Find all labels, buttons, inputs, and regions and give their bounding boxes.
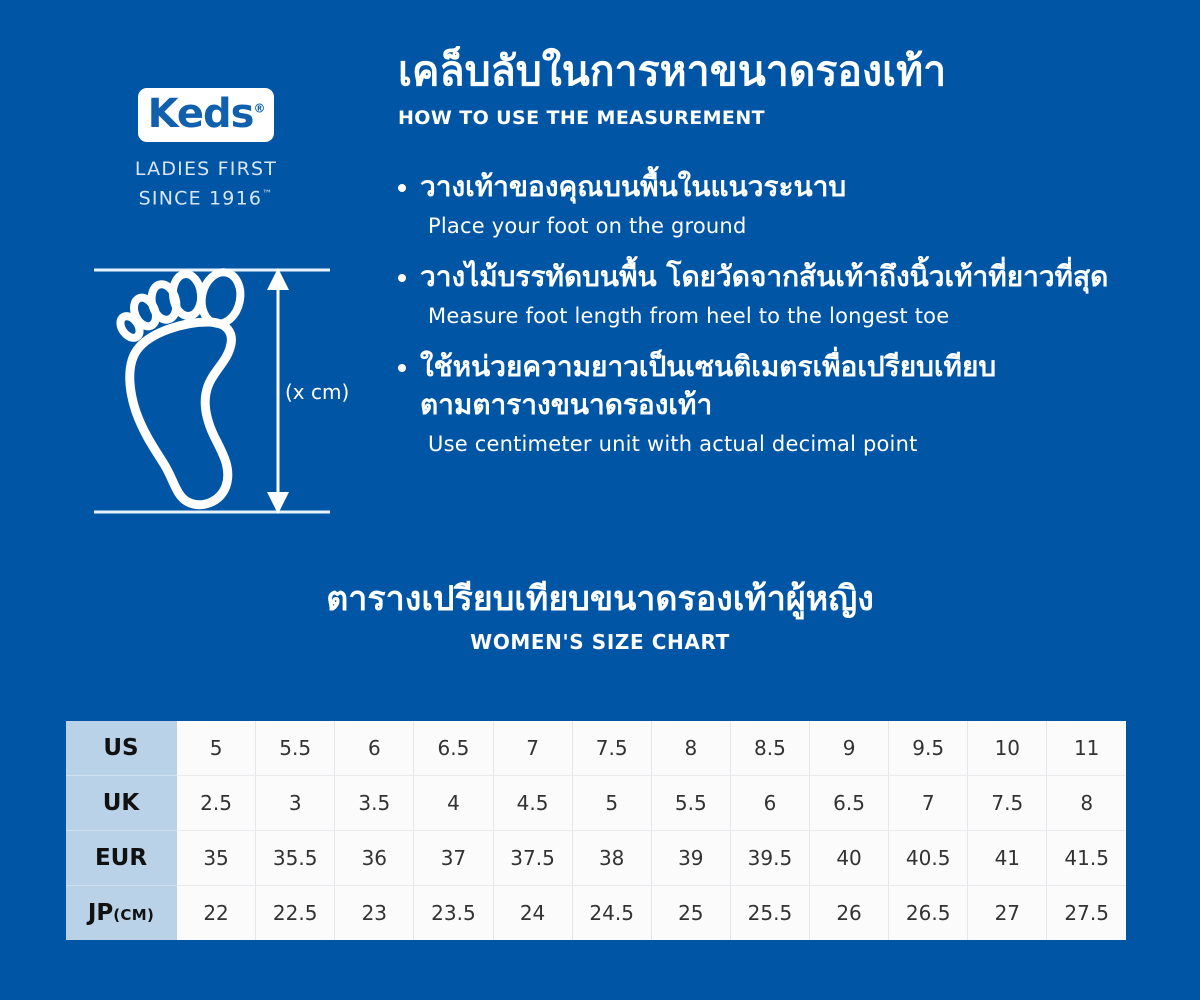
instruction-steps: วางเท้าของคุณบนพื้นในแนวระนาบ Place your… [398,168,1168,476]
row-label-uk: UK [66,776,177,831]
table-cell: 39.5 [730,831,809,886]
row-label-jp-unit: (CM) [113,906,154,924]
table-cell: 6.5 [810,776,889,831]
table-row: JP(CM) 22 22.5 23 23.5 24 24.5 25 25.5 2… [66,886,1126,941]
table-cell: 4 [414,776,493,831]
row-label-jp-text: JP [88,900,113,926]
row-label-uk-text: UK [103,790,140,816]
step-thai-text: วางไม้บรรทัดบนพื้น โดยวัดจากส้นเท้าถึงนิ… [420,258,1108,296]
table-cell: 8 [651,721,730,776]
step-thai-text: ใช้หน่วยความยาวเป็นเซนติเมตรเพื่อเปรียบเ… [420,348,1038,424]
table-cell: 10 [968,721,1047,776]
table-cell: 37 [414,831,493,886]
table-cell: 7.5 [968,776,1047,831]
table-cell: 9.5 [889,721,968,776]
step-thai-row: วางไม้บรรทัดบนพื้น โดยวัดจากส้นเท้าถึงนิ… [398,258,1168,296]
row-label-us: US [66,721,177,776]
table-cell: 2.5 [177,776,256,831]
step-thai-row: วางเท้าของคุณบนพื้นในแนวระนาบ [398,168,1168,206]
step-thai-row: ใช้หน่วยความยาวเป็นเซนติเมตรเพื่อเปรียบเ… [398,348,1038,424]
tagline-line-2: SINCE 1916™ [96,182,316,211]
table-cell: 11 [1047,721,1126,776]
table-cell: 9 [810,721,889,776]
table-cell: 5 [177,721,256,776]
step-english-text: Measure foot length from heel to the lon… [428,302,1168,330]
table-cell: 26 [810,886,889,941]
table-cell: 3.5 [335,776,414,831]
page-title-english: HOW TO USE THE MEASUREMENT [398,107,1158,129]
table-cell: 41 [968,831,1047,886]
measurement-label: (x cm) [285,380,349,404]
size-chart-infographic: { "colors": { "background_blue": "#0055a… [0,0,1200,1000]
step-english-text: Use centimeter unit with actual decimal … [428,430,1168,458]
keds-logo-box: Keds® [138,88,274,142]
table-cell: 24.5 [572,886,651,941]
row-label-jp: JP(CM) [66,886,177,941]
step-english-text: Place your foot on the ground [428,212,1168,240]
table-cell: 40.5 [889,831,968,886]
trademark-icon: ™ [262,189,273,200]
table-cell: 23 [335,886,414,941]
table-cell: 6 [335,721,414,776]
header-block: เคล็บลับในการหาขนาดรองเท้า HOW TO USE TH… [398,46,1158,129]
table-cell: 40 [810,831,889,886]
size-chart-heading: ตารางเปรียบเทียบขนาดรองเท้าผู้หญิง WOMEN… [0,578,1200,654]
keds-wordmark-text: Keds [148,91,254,137]
table-row: US 5 5.5 6 6.5 7 7.5 8 8.5 9 9.5 10 11 [66,721,1126,776]
size-chart-table-wrapper: US 5 5.5 6 6.5 7 7.5 8 8.5 9 9.5 10 11 U… [66,721,1126,940]
row-label-us-text: US [103,735,138,761]
table-cell: 5.5 [651,776,730,831]
table-cell: 4.5 [493,776,572,831]
size-chart-table: US 5 5.5 6 6.5 7 7.5 8 8.5 9 9.5 10 11 U… [66,721,1126,940]
bullet-icon [398,364,406,372]
foot-measurement-diagram: (x cm) [80,262,350,524]
table-cell: 39 [651,831,730,886]
table-cell: 7 [493,721,572,776]
table-row: EUR 35 35.5 36 37 37.5 38 39 39.5 40 40.… [66,831,1126,886]
registered-trademark-icon: ® [253,102,264,116]
table-cell: 24 [493,886,572,941]
table-cell: 37.5 [493,831,572,886]
table-cell: 36 [335,831,414,886]
table-cell: 27 [968,886,1047,941]
brand-logo-block: Keds® LADIES FIRST SINCE 1916™ [96,88,316,211]
table-cell: 8 [1047,776,1126,831]
table-cell: 5 [572,776,651,831]
instruction-step: ใช้หน่วยความยาวเป็นเซนติเมตรเพื่อเปรียบเ… [398,348,1168,458]
table-cell: 7 [889,776,968,831]
table-cell: 26.5 [889,886,968,941]
page-title-thai: เคล็บลับในการหาขนาดรองเท้า [398,46,1158,96]
bullet-icon [398,274,406,282]
table-cell: 27.5 [1047,886,1126,941]
table-cell: 7.5 [572,721,651,776]
table-cell: 25.5 [730,886,809,941]
foot-sole-outline [130,322,232,505]
table-row: UK 2.5 3 3.5 4 4.5 5 5.5 6 6.5 7 7.5 8 [66,776,1126,831]
table-cell: 38 [572,831,651,886]
table-cell: 35 [177,831,256,886]
size-chart-heading-thai: ตารางเปรียบเทียบขนาดรองเท้าผู้หญิง [0,578,1200,620]
brand-tagline: LADIES FIRST SINCE 1916™ [96,156,316,211]
row-label-eur: EUR [66,831,177,886]
instruction-step: วางเท้าของคุณบนพื้นในแนวระนาบ Place your… [398,168,1168,240]
keds-wordmark: Keds® [148,94,265,134]
tagline-line-2-text: SINCE 1916 [139,187,263,209]
table-cell: 3 [256,776,335,831]
tagline-line-1: LADIES FIRST [96,156,316,182]
step-thai-text: วางเท้าของคุณบนพื้นในแนวระนาบ [420,168,846,206]
table-cell: 25 [651,886,730,941]
instruction-step: วางไม้บรรทัดบนพื้น โดยวัดจากส้นเท้าถึงนิ… [398,258,1168,330]
size-chart-heading-english: WOMEN'S SIZE CHART [0,630,1200,654]
table-cell: 5.5 [256,721,335,776]
table-cell: 22.5 [256,886,335,941]
row-label-eur-text: EUR [95,845,147,871]
table-cell: 6.5 [414,721,493,776]
table-cell: 23.5 [414,886,493,941]
table-cell: 41.5 [1047,831,1126,886]
table-cell: 8.5 [730,721,809,776]
table-cell: 22 [177,886,256,941]
table-cell: 6 [730,776,809,831]
table-cell: 35.5 [256,831,335,886]
bullet-icon [398,184,406,192]
